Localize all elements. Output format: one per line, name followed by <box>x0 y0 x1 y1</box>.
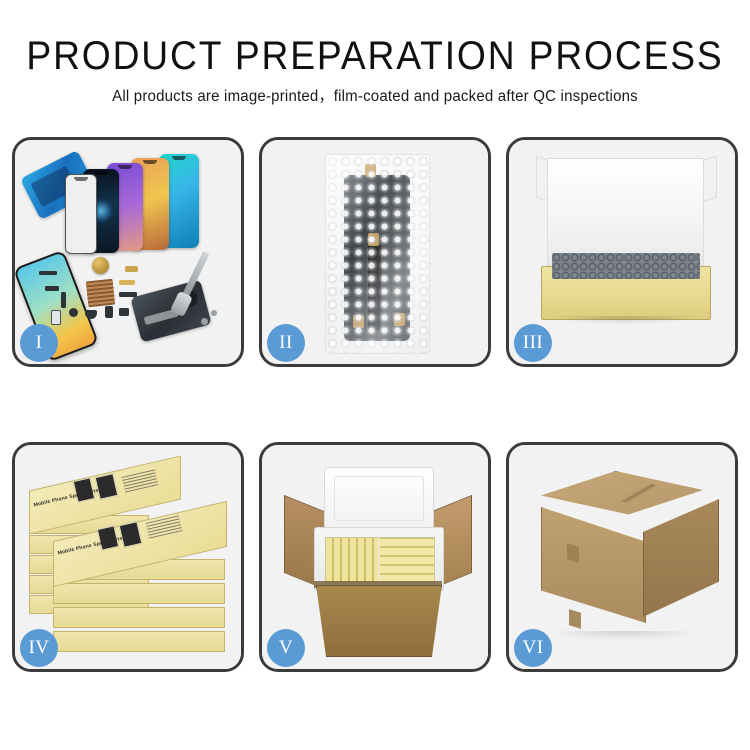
carton-front-face <box>541 507 646 623</box>
step-badge-4: IV <box>20 629 58 667</box>
carton-side-face <box>643 499 719 617</box>
phone-screen-glass <box>65 174 97 254</box>
page-subtitle: All products are image-printed，film-coat… <box>11 87 739 107</box>
spare-part-icon <box>51 310 61 325</box>
carton-tape-icon <box>569 609 581 629</box>
spare-part-icon <box>119 292 137 297</box>
screw-icon <box>211 310 217 316</box>
spare-part-icon <box>119 308 129 316</box>
header: PRODUCT PREPARATION PROCESS All products… <box>0 0 750 107</box>
stacked-box <box>53 583 225 604</box>
box-row-vertical <box>326 538 378 582</box>
notch-icon <box>172 156 186 160</box>
page-title: PRODUCT PREPARATION PROCESS <box>26 34 724 78</box>
spare-part-icon <box>39 271 57 275</box>
box-stack: Mobile Phone Spare Parts Mobile Phone Sp… <box>27 459 235 659</box>
copper-shield-plate-icon <box>86 279 116 308</box>
screw-icon <box>201 318 208 325</box>
notch-icon <box>74 177 88 181</box>
notch-icon <box>143 160 157 164</box>
drop-shadow <box>549 316 701 325</box>
spare-part-icon <box>105 306 113 318</box>
step-badge-1: I <box>20 324 58 362</box>
step-panel-6: VI <box>506 442 738 672</box>
foam-lid <box>324 467 434 531</box>
drop-shadow <box>549 631 699 641</box>
bubble-wrap-bag <box>325 154 430 354</box>
stacked-box <box>53 631 225 652</box>
spare-part-icon <box>85 310 97 319</box>
product-preparation-infographic: PRODUCT PREPARATION PROCESS All products… <box>0 0 750 750</box>
phone-screen-fan <box>67 152 241 262</box>
notch-icon <box>118 165 132 169</box>
spare-part-icon <box>125 266 138 272</box>
carton-body <box>316 585 442 657</box>
stacked-box <box>53 607 225 628</box>
spare-part-icon <box>119 280 135 285</box>
box-row-horizontal <box>380 538 434 582</box>
step-panel-1: I <box>12 137 244 367</box>
carton-tape-icon <box>567 543 579 563</box>
step-badge-2: II <box>267 324 305 362</box>
step-panel-2: II <box>259 137 491 367</box>
spare-part-icon <box>45 286 59 291</box>
plastic-sheen <box>326 155 429 353</box>
step-panel-3: III <box>506 137 738 367</box>
steps-grid: I II <box>12 137 738 672</box>
spare-part-icon <box>69 308 78 317</box>
spare-part-icon <box>61 292 66 308</box>
bubble-wrapped-contents <box>552 253 700 279</box>
vibration-motor-icon <box>92 257 109 274</box>
step-panel-5: V <box>259 442 491 672</box>
step-badge-6: VI <box>514 629 552 667</box>
step-badge-5: V <box>267 629 305 667</box>
yellow-box-tray <box>541 266 711 320</box>
boxes-inside-foam <box>325 537 435 583</box>
step-panel-4: Mobile Phone Spare Parts Mobile Phone Sp… <box>12 442 244 672</box>
step-badge-3: III <box>514 324 552 362</box>
notch-icon <box>94 171 108 175</box>
